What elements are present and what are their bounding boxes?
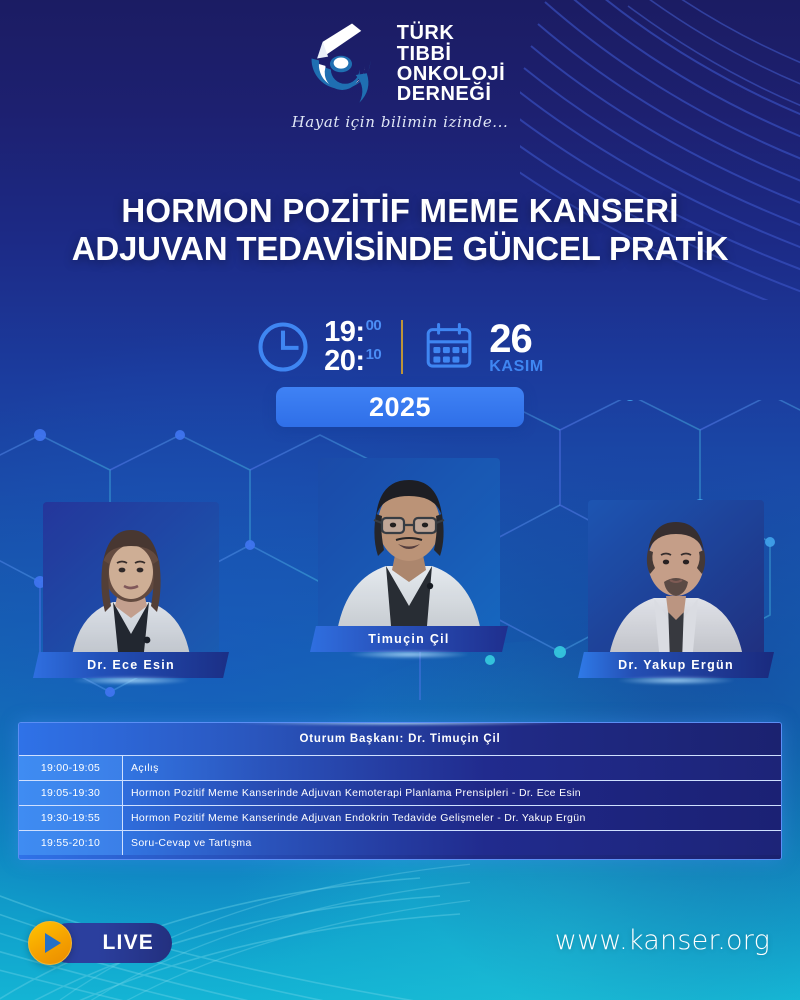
time-range: 19: 00 20: 10 bbox=[324, 318, 381, 376]
table-row: 19:00-19:05 Açılış bbox=[19, 755, 781, 780]
schedule-time-2: 19:05-19:30 bbox=[19, 781, 123, 805]
poster-root: TÜRK TIBBİ ONKOLOJİ DERNEĞİ Hayat için b… bbox=[0, 0, 800, 1000]
schedule-bottom-edge bbox=[19, 855, 781, 859]
event-day: 26 bbox=[489, 320, 532, 358]
logo-line-2: TIBBİ bbox=[397, 44, 505, 64]
table-row: 19:05-19:30 Hormon Pozitif Meme Kanserin… bbox=[19, 780, 781, 805]
logo-line-4: DERNEĞİ bbox=[397, 84, 505, 104]
speaker-name-badge-3: Dr. Yakup Ergün bbox=[578, 652, 774, 678]
schedule-title-3: Hormon Pozitif Meme Kanserinde Adjuvan E… bbox=[123, 806, 781, 830]
page-title: HORMON POZİTİF MEME KANSERİ ADJUVAN TEDA… bbox=[0, 192, 800, 269]
title-line-2: ADJUVAN TEDAVİSİNDE GÜNCEL PRATİK bbox=[28, 230, 772, 268]
table-row: 19:30-19:55 Hormon Pozitif Meme Kanserin… bbox=[19, 805, 781, 830]
schedule-title-4: Soru-Cevap ve Tartışma bbox=[123, 831, 781, 855]
event-year-pill: 2025 bbox=[276, 387, 524, 427]
event-datetime: 19: 00 20: 10 bbox=[0, 318, 800, 427]
website-url[interactable]: www.kanser.org bbox=[555, 925, 770, 956]
title-line-1: HORMON POZİTİF MEME KANSERİ bbox=[28, 192, 772, 230]
logo-wordmark: TÜRK TIBBİ ONKOLOJİ DERNEĞİ bbox=[397, 23, 505, 105]
organization-logo: TÜRK TIBBİ ONKOLOJİ DERNEĞİ Hayat için b… bbox=[0, 18, 800, 131]
calendar-icon bbox=[423, 321, 475, 373]
vertical-divider bbox=[401, 320, 403, 374]
speaker-card-3: Dr. Yakup Ergün bbox=[588, 500, 764, 662]
schedule-table: Oturum Başkanı: Dr. Timuçin Çil 19:00-19… bbox=[18, 722, 782, 860]
swoosh-spiral-logo-icon bbox=[295, 18, 387, 110]
speaker-name-badge-1: Dr. Ece Esin bbox=[33, 652, 229, 678]
badge-glow-3 bbox=[616, 676, 736, 685]
event-year: 2025 bbox=[369, 392, 431, 423]
speaker-photo-3 bbox=[588, 500, 764, 662]
end-time-hour: 20: bbox=[324, 347, 364, 376]
speaker-card-2: Timuçin Çil bbox=[318, 458, 500, 638]
schedule-header: Oturum Başkanı: Dr. Timuçin Çil bbox=[19, 723, 781, 755]
badge-glow-2 bbox=[347, 650, 471, 659]
logo-line-1: TÜRK bbox=[397, 23, 505, 43]
speaker-card-1: Dr. Ece Esin bbox=[43, 502, 219, 662]
end-time-minutes: 10 bbox=[366, 347, 382, 362]
table-row: 19:55-20:10 Soru-Cevap ve Tartışma bbox=[19, 830, 781, 855]
schedule-time-3: 19:30-19:55 bbox=[19, 806, 123, 830]
schedule-time-1: 19:00-19:05 bbox=[19, 756, 123, 780]
event-month: KASIM bbox=[489, 359, 544, 374]
speaker-name-2: Timuçin Çil bbox=[368, 632, 449, 646]
speaker-name-badge-2: Timuçin Çil bbox=[310, 626, 508, 652]
clock-icon bbox=[256, 320, 310, 374]
speaker-name-1: Dr. Ece Esin bbox=[87, 658, 175, 672]
schedule-time-4: 19:55-20:10 bbox=[19, 831, 123, 855]
datetime-row: 19: 00 20: 10 bbox=[256, 318, 544, 376]
speaker-photo-2 bbox=[318, 458, 500, 638]
event-date: 26 KASIM bbox=[489, 320, 544, 374]
schedule-title-1: Açılış bbox=[123, 756, 781, 780]
live-label: LIVE bbox=[103, 931, 154, 955]
badge-glow-1 bbox=[71, 676, 191, 685]
start-time-minutes: 00 bbox=[366, 318, 382, 333]
speaker-name-3: Dr. Yakup Ergün bbox=[618, 658, 734, 672]
start-time-hour: 19: bbox=[324, 318, 364, 347]
schedule-title-2: Hormon Pozitif Meme Kanserinde Adjuvan K… bbox=[123, 781, 781, 805]
logo-row: TÜRK TIBBİ ONKOLOJİ DERNEĞİ bbox=[295, 18, 505, 110]
start-time: 19: 00 bbox=[324, 318, 381, 347]
speaker-photo-1 bbox=[43, 502, 219, 662]
play-button-icon[interactable] bbox=[28, 921, 72, 965]
speakers-section: Dr. Ece Esin bbox=[0, 440, 800, 700]
play-triangle bbox=[45, 933, 61, 953]
logo-tagline: Hayat için bilimin izinde... bbox=[292, 113, 509, 131]
live-badge[interactable]: LIVE bbox=[28, 920, 172, 966]
end-time: 20: 10 bbox=[324, 347, 381, 376]
logo-line-3: ONKOLOJİ bbox=[397, 64, 505, 84]
